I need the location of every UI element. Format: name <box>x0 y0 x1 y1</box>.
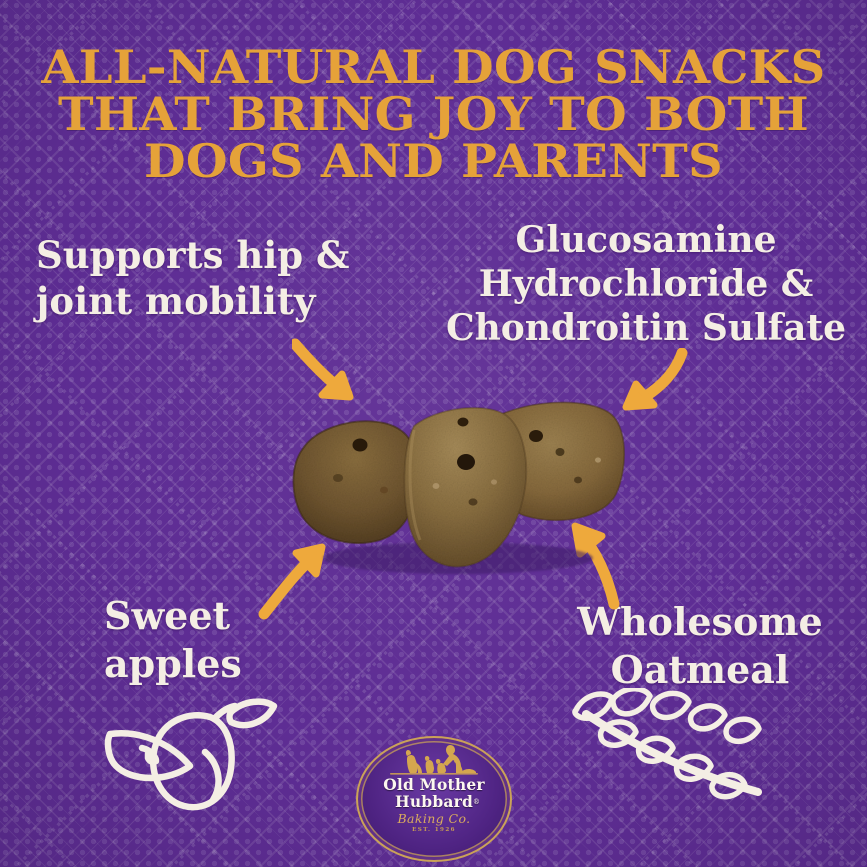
callout-glucosamine-line-1: Glucosamine <box>432 218 860 262</box>
callout-glucosamine: Glucosamine Hydrochloride & Chondroitin … <box>432 218 860 350</box>
logo-script-tagline: Baking Co. <box>397 812 470 825</box>
headline-line-1: All-Natural Dog Snacks <box>0 44 867 91</box>
three-dog-biscuits-image <box>268 390 648 580</box>
callout-sweet-apples-line-2: apples <box>104 640 242 688</box>
brand-logo[interactable]: Old Mother Hubbard® Baking Co. EST. 1926 <box>356 736 512 862</box>
callout-glucosamine-line-3: Chondroitin Sulfate <box>432 306 860 350</box>
headline-line-3: Dogs and Parents <box>0 138 867 185</box>
headline: All-Natural Dog Snacks That Bring Joy to… <box>0 44 867 185</box>
callout-glucosamine-line-2: Hydrochloride & <box>432 262 860 306</box>
apple-with-slice-icon <box>98 690 288 820</box>
callout-hip-joint-line-2: joint mobility <box>36 278 349 324</box>
logo-name-line-1: Old Mother <box>383 776 485 793</box>
logo-trademark-symbol: ® <box>473 794 480 811</box>
wheat-stalk-icon <box>568 688 770 840</box>
callout-sweet-apples: Sweet apples <box>104 592 242 688</box>
logo-name-line-2: Hubbard® <box>395 793 473 810</box>
callout-wholesome-oatmeal-line-2: Oatmeal <box>540 646 860 694</box>
product-feature-graphic: All-Natural Dog Snacks That Bring Joy to… <box>0 0 867 867</box>
callout-hip-joint-line-1: Supports hip & <box>36 232 349 278</box>
logo-name-line-2-text: Hubbard <box>395 792 473 811</box>
callout-sweet-apples-line-1: Sweet <box>104 592 242 640</box>
woman-with-dogs-silhouette-icon <box>386 742 482 776</box>
logo-established-year: EST. 1926 <box>412 827 456 833</box>
headline-line-2: That Bring Joy to Both <box>0 91 867 138</box>
callout-hip-joint: Supports hip & joint mobility <box>36 232 349 324</box>
